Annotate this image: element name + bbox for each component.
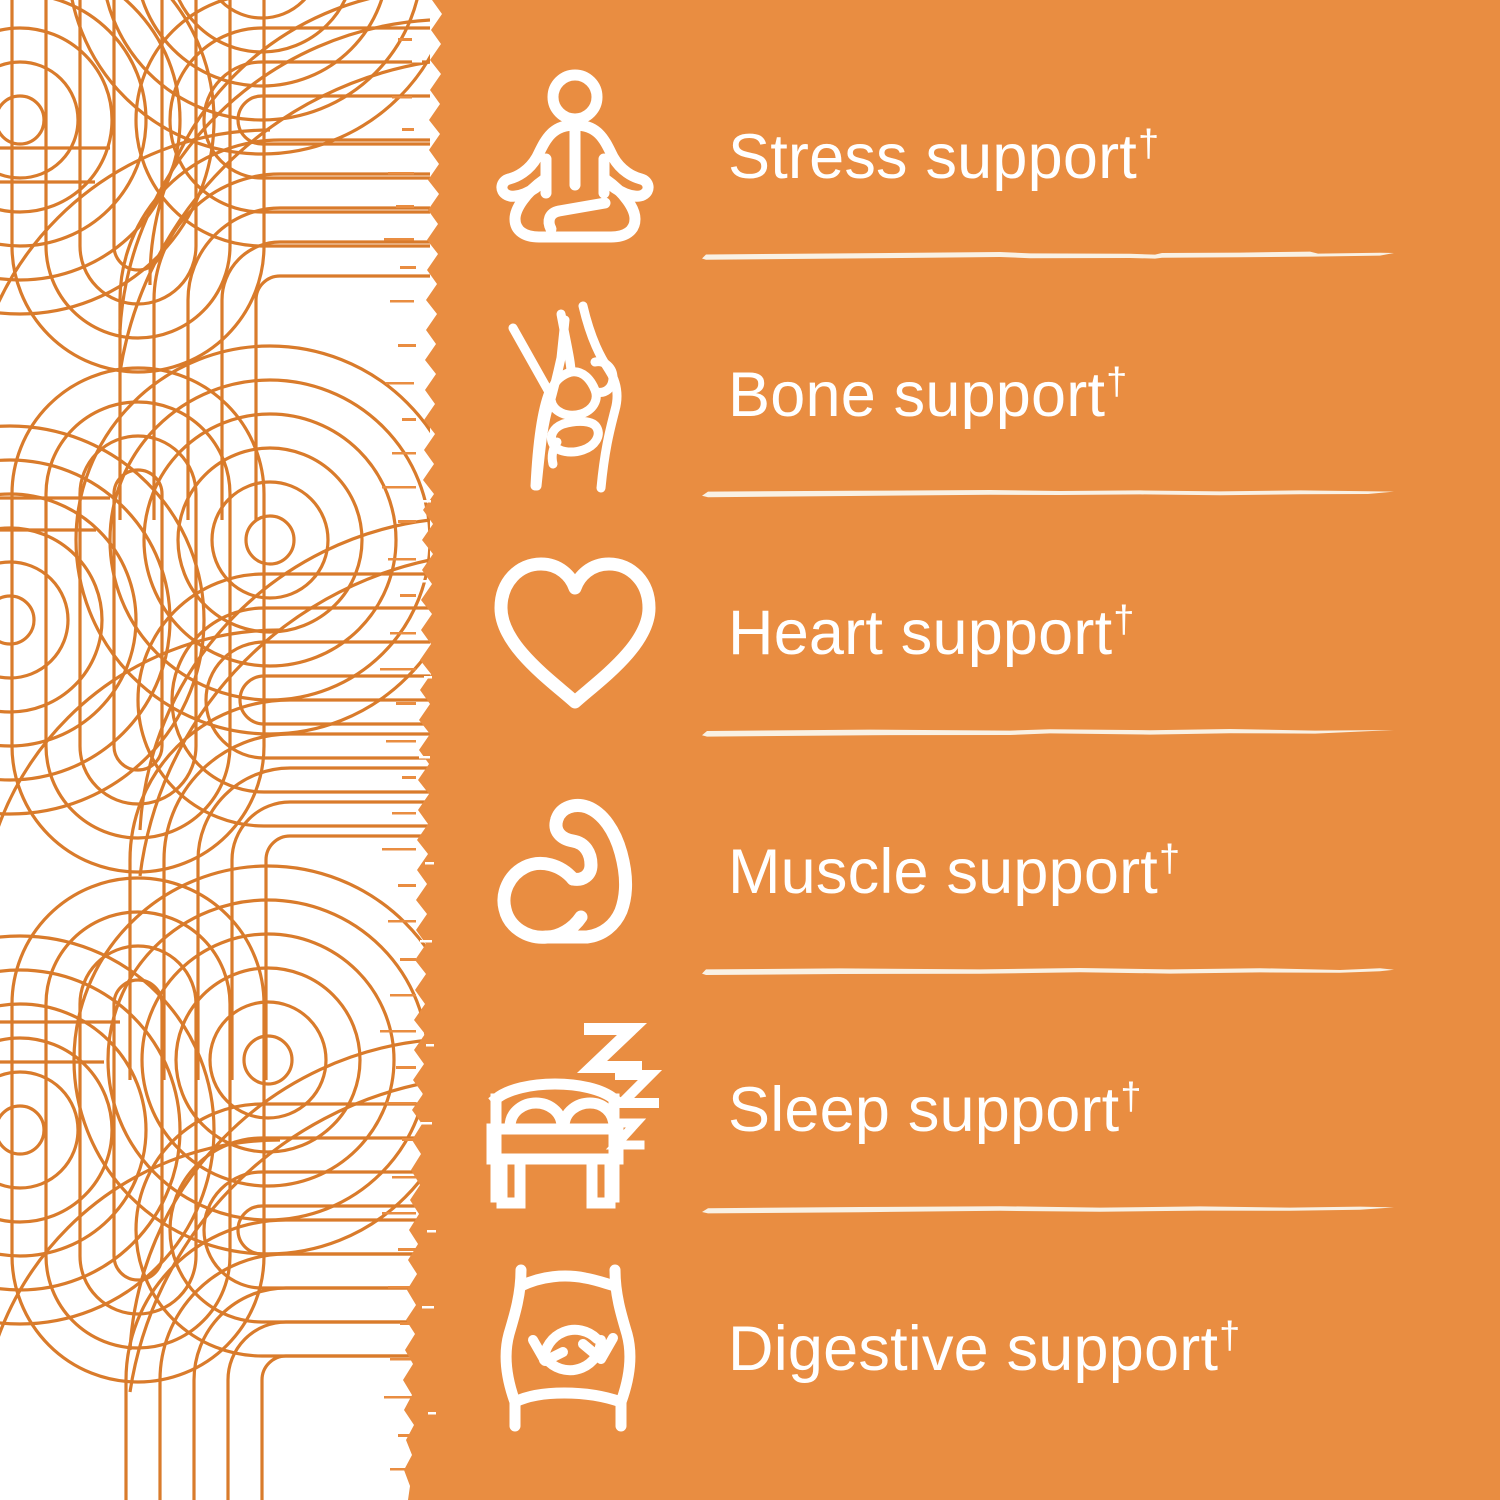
benefit-label-digestive: Digestive support† bbox=[680, 1318, 1500, 1381]
benefits-list: Stress support† bbox=[0, 0, 1500, 1500]
benefit-label-muscle: Muscle support† bbox=[680, 841, 1500, 904]
benefit-row-heart: Heart support† bbox=[470, 521, 1500, 746]
benefit-label-bone: Bone support† bbox=[680, 364, 1500, 427]
benefit-row-stress: Stress support† bbox=[470, 45, 1500, 270]
dagger-marker: † bbox=[1113, 599, 1134, 641]
benefit-label-stress: Stress support† bbox=[680, 126, 1500, 189]
benefit-row-muscle: Muscle support† bbox=[470, 760, 1500, 985]
benefit-row-bone: Bone support† bbox=[470, 283, 1500, 508]
bed-zzz-icon bbox=[470, 1011, 680, 1211]
benefit-row-digestive: Digestive support† bbox=[470, 1237, 1500, 1462]
heart-icon bbox=[470, 534, 680, 734]
flexed-bicep-icon bbox=[470, 773, 680, 973]
benefit-label-sleep: Sleep support† bbox=[680, 1079, 1500, 1142]
torso-digestion-icon bbox=[470, 1250, 680, 1450]
meditation-lotus-icon bbox=[470, 58, 680, 258]
benefit-label-heart: Heart support† bbox=[680, 602, 1500, 665]
dagger-marker: † bbox=[1138, 123, 1159, 165]
product-benefits-graphic: Stress support† bbox=[0, 0, 1500, 1500]
dagger-marker: † bbox=[1106, 361, 1127, 403]
dagger-marker: † bbox=[1219, 1315, 1240, 1357]
knee-joint-bone-icon bbox=[470, 296, 680, 496]
benefit-row-sleep: Sleep support† bbox=[470, 998, 1500, 1223]
dagger-marker: † bbox=[1159, 838, 1180, 880]
dagger-marker: † bbox=[1120, 1076, 1141, 1118]
